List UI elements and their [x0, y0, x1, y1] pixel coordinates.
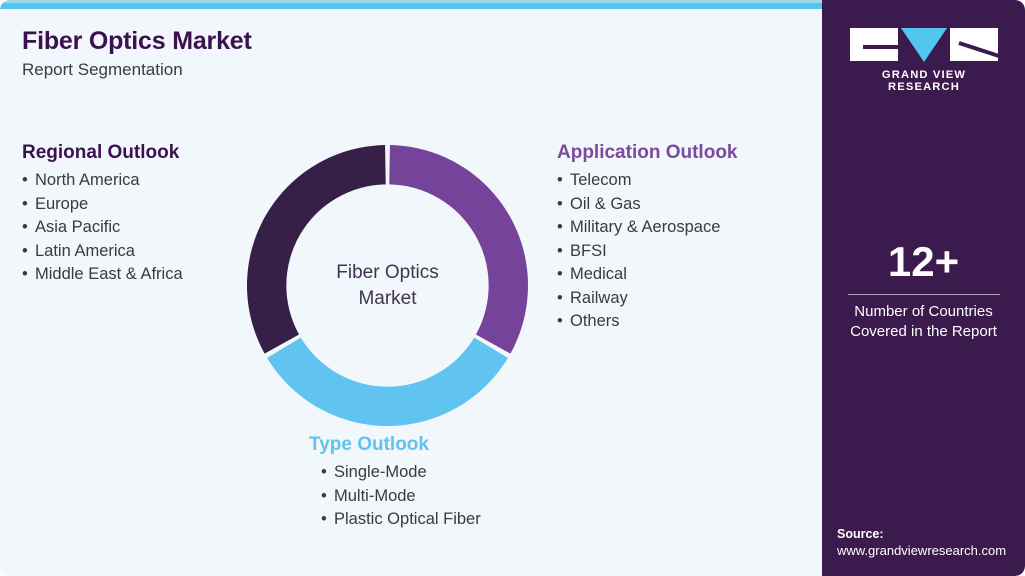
list-item: Asia Pacific	[22, 216, 183, 240]
list-item: Medical	[557, 263, 738, 287]
stat-divider	[848, 294, 1000, 295]
list-item: Latin America	[22, 240, 183, 264]
stat-value: 12+	[822, 238, 1025, 286]
donut-chart-svg	[247, 145, 528, 426]
donut-segment	[267, 338, 508, 426]
type-outlook-section: Type Outlook Single-Mode Multi-Mode Plas…	[309, 434, 481, 532]
list-item: Plastic Optical Fiber	[321, 508, 481, 532]
stat-label-line-2: Covered in the Report	[822, 322, 1025, 342]
list-item: Railway	[557, 287, 738, 311]
source-block: Source: www.grandviewresearch.com	[837, 527, 1025, 558]
brand-logo: GRAND VIEW RESEARCH	[850, 28, 998, 93]
list-item: Europe	[22, 193, 183, 217]
page-subtitle: Report Segmentation	[22, 60, 183, 80]
source-label: Source:	[837, 527, 1025, 541]
side-panel: GRAND VIEW RESEARCH 12+ Number of Countr…	[822, 0, 1025, 576]
stat-label-line-1: Number of Countries	[822, 302, 1025, 322]
list-item: Oil & Gas	[557, 193, 738, 217]
application-outlook-list: Telecom Oil & Gas Military & Aerospace B…	[557, 169, 738, 334]
donut-segment	[247, 145, 386, 354]
list-item: North America	[22, 169, 183, 193]
type-outlook-list: Single-Mode Multi-Mode Plastic Optical F…	[309, 461, 481, 532]
letter-v-triangle-icon	[901, 28, 947, 62]
logo-marks	[850, 28, 998, 62]
letter-r-block-icon	[950, 28, 998, 61]
regional-outlook-heading: Regional Outlook	[22, 142, 183, 164]
letter-g-block-icon	[850, 28, 898, 61]
regional-outlook-section: Regional Outlook North America Europe As…	[22, 142, 183, 287]
list-item: Middle East & Africa	[22, 263, 183, 287]
donut-chart: Fiber Optics Market	[247, 145, 528, 426]
stat-block: 12+ Number of Countries Covered in the R…	[822, 238, 1025, 342]
list-item: Telecom	[557, 169, 738, 193]
infographic-card: Fiber Optics Market Report Segmentation …	[0, 0, 1025, 576]
donut-segment	[389, 145, 528, 354]
page-title: Fiber Optics Market	[22, 27, 252, 56]
type-outlook-heading: Type Outlook	[309, 434, 481, 456]
list-item: Others	[557, 310, 738, 334]
list-item: Multi-Mode	[321, 485, 481, 509]
application-outlook-section: Application Outlook Telecom Oil & Gas Mi…	[557, 142, 738, 334]
list-item: Single-Mode	[321, 461, 481, 485]
application-outlook-heading: Application Outlook	[557, 142, 738, 164]
list-item: Military & Aerospace	[557, 216, 738, 240]
logo-wordmark: GRAND VIEW RESEARCH	[850, 69, 998, 93]
source-url: www.grandviewresearch.com	[837, 543, 1025, 558]
list-item: BFSI	[557, 240, 738, 264]
regional-outlook-list: North America Europe Asia Pacific Latin …	[22, 169, 183, 287]
